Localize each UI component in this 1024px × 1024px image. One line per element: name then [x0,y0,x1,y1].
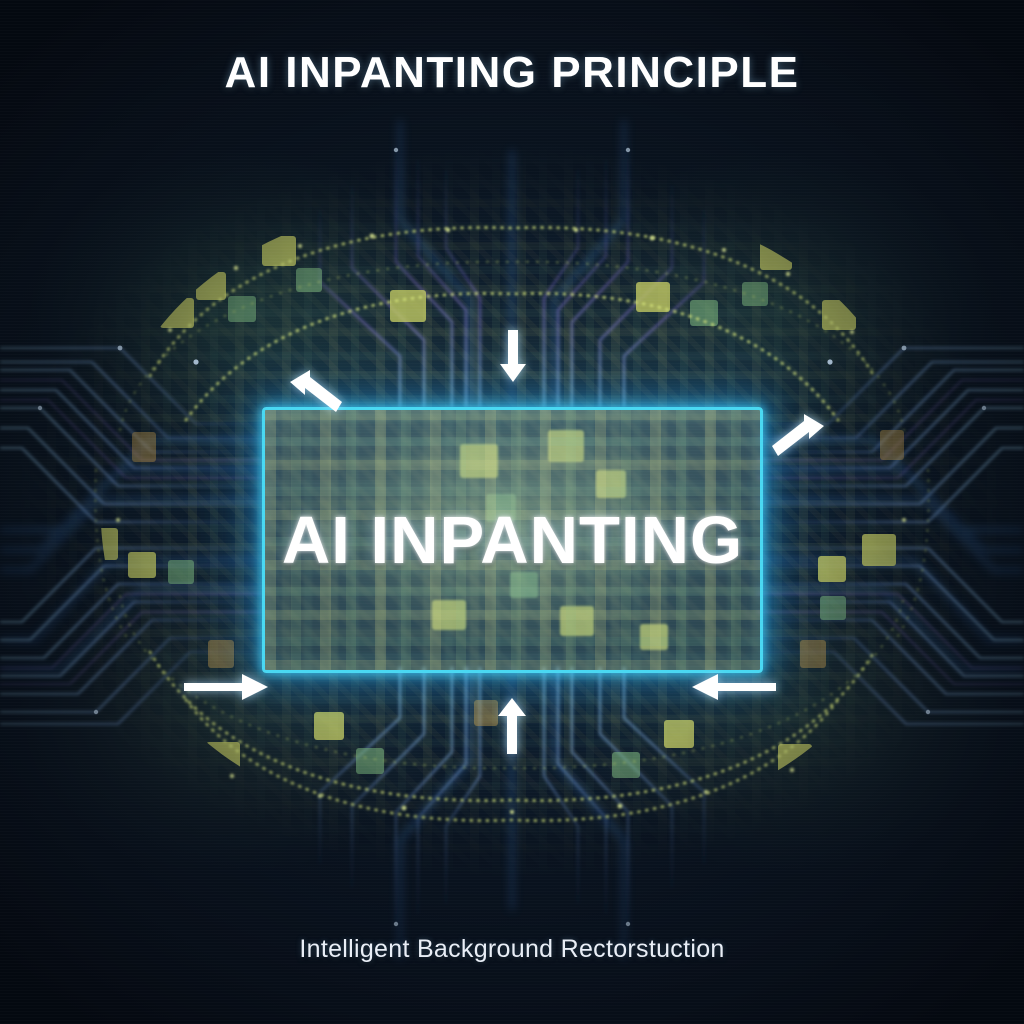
center-panel-label: AI INPANTING [282,502,743,579]
arrow-up-left-icon [286,368,346,414]
arrow-up-bottom-icon [498,698,526,754]
arrow-left-icon [692,672,776,702]
poster-canvas: AI INPANTING AI INPANTING PRINCIPLE Inte… [0,0,1024,1024]
arrow-right-icon [184,672,268,702]
page-title: AI INPANTING PRINCIPLE [0,48,1024,98]
arrow-down-top-icon [500,330,526,382]
center-panel[interactable]: AI INPANTING [262,407,763,673]
page-subtitle: Intelligent Background Rectorstuction [0,935,1024,964]
arrow-up-right-icon [766,412,828,458]
